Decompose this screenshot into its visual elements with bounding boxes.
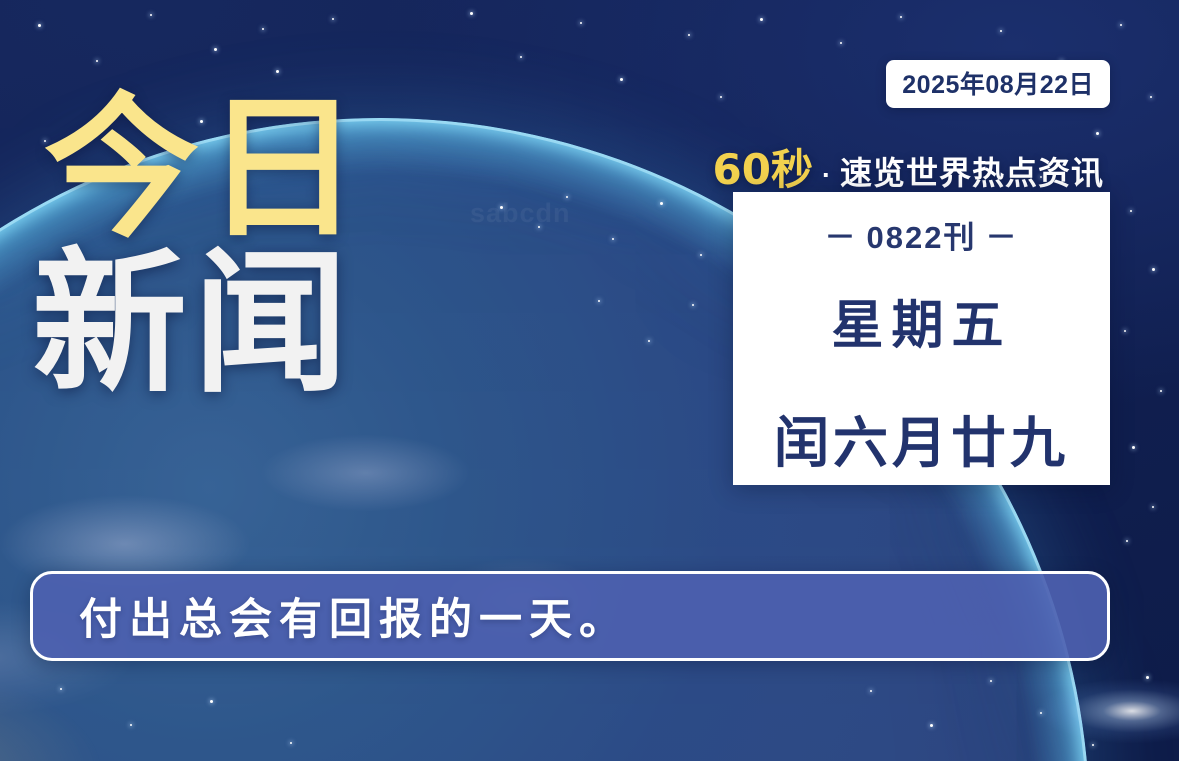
slogan-text: 速览世界热点资讯 — [840, 148, 1104, 194]
issue-line: －0822刊－ — [733, 212, 1110, 257]
issue-dash-left: － — [816, 220, 867, 255]
issue-info-card: －0822刊－ 星期五 闰六月廿九 — [733, 192, 1110, 485]
quote-text: 付出总会有回报的一天。 — [79, 585, 629, 647]
headline-line-today: 今日 — [44, 95, 464, 244]
weekday-label: 星期五 — [733, 283, 1110, 358]
issue-dash-right: － — [976, 220, 1027, 255]
date-badge: 2025年08月22日 — [886, 60, 1110, 108]
quote-banner: 付出总会有回报的一天。 — [30, 571, 1110, 661]
lunar-date-label: 闰六月廿九 — [774, 398, 1069, 478]
headline-line-news: 新闻 — [32, 250, 464, 399]
slogan-separator-dot: · — [817, 160, 836, 191]
issue-card-inner: －0822刊－ 星期五 闰六月廿九 — [733, 212, 1110, 491]
slogan-duration: 60秒 — [713, 136, 813, 197]
issue-number-label: 0822刊 — [867, 220, 977, 255]
slogan-row: 60秒 · 速览世界热点资讯 — [713, 136, 1104, 197]
poster-headline: 今日 新闻 — [44, 95, 464, 399]
news-poster: sabcdn 今日 新闻 2025年08月22日 60秒 · 速览世界热点资讯 … — [0, 0, 1179, 761]
